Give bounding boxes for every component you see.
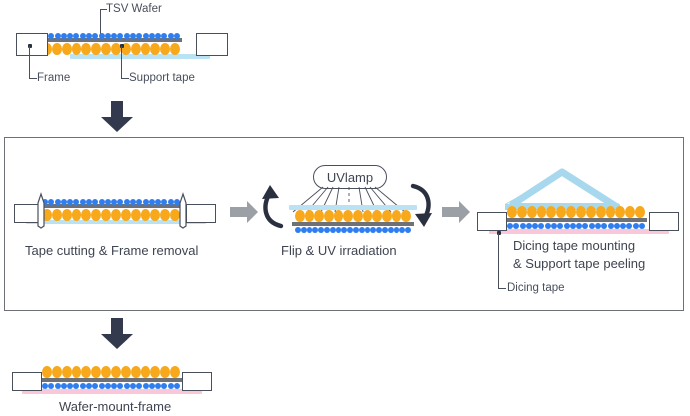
blue-bump	[67, 33, 73, 39]
blue-bump	[117, 33, 123, 39]
orange-bump	[517, 206, 527, 218]
result-caption: Wafer-mount-frame	[59, 399, 171, 416]
blue-bump	[105, 199, 111, 205]
orange-bump	[382, 210, 392, 222]
blue-bump	[143, 199, 149, 205]
orange-bump	[91, 43, 101, 55]
blue-bump	[595, 223, 601, 229]
orange-bump	[141, 366, 151, 378]
orange-bump	[62, 43, 72, 55]
tsv-wafer-label: TSV Wafer	[106, 2, 162, 16]
dicing-tape-leader-vertical	[498, 233, 499, 288]
orange-bump	[81, 366, 91, 378]
orange-bump	[615, 206, 625, 218]
blue-bump	[111, 383, 117, 389]
blue-bump-row-result	[42, 382, 180, 389]
orange-bump	[72, 366, 82, 378]
blue-bump	[324, 227, 330, 233]
blue-bump	[136, 33, 142, 39]
blue-bump	[61, 33, 67, 39]
blue-bump	[626, 223, 632, 229]
blue-bump-row-step3	[507, 222, 645, 229]
blue-bump	[86, 33, 92, 39]
orange-bump	[586, 206, 596, 218]
step-dicing-mount-caption: Dicing tape mounting & Support tape peel…	[513, 237, 645, 272]
orange-bump	[62, 366, 72, 378]
orange-bump	[121, 209, 131, 221]
blue-bump	[48, 33, 54, 39]
orange-bump	[606, 206, 616, 218]
blue-bump-row-step1	[42, 198, 180, 205]
orange-bump	[91, 209, 101, 221]
orange-bump	[635, 206, 645, 218]
frame-left-step3	[477, 212, 507, 231]
blue-bump	[388, 227, 394, 233]
orange-bump	[62, 209, 72, 221]
blue-bump	[149, 33, 155, 39]
blue-bump	[174, 33, 180, 39]
blade-icon-left	[36, 194, 46, 228]
blue-bump	[99, 199, 105, 205]
blue-bump	[161, 33, 167, 39]
blue-bump	[330, 227, 336, 233]
orange-bump	[566, 206, 576, 218]
frame-label: Frame	[37, 71, 70, 85]
blue-bump	[149, 383, 155, 389]
dicing-tape-layer-result	[22, 389, 202, 394]
frame-leader-vertical	[29, 46, 30, 78]
blue-bump	[61, 199, 67, 205]
blue-bump	[67, 383, 73, 389]
orange-bump	[150, 366, 160, 378]
orange-bump	[131, 209, 141, 221]
orange-bump	[392, 210, 402, 222]
blue-bump	[620, 223, 626, 229]
blue-bump	[161, 383, 167, 389]
stack-step1	[0, 190, 240, 235]
blue-bump	[608, 223, 614, 229]
blue-bump	[124, 383, 130, 389]
orange-bump-row-step1	[42, 208, 180, 221]
blue-bump	[105, 383, 111, 389]
tsv-wafer-leader-horizontal	[100, 9, 107, 10]
blue-bump	[130, 33, 136, 39]
orange-bump	[305, 210, 315, 222]
frame-leader-horizontal	[29, 78, 37, 79]
blue-bump	[136, 199, 142, 205]
blue-bump	[143, 33, 149, 39]
step-tape-cutting-caption: Tape cutting & Frame removal	[25, 243, 198, 260]
blue-bump	[55, 199, 61, 205]
blue-bump	[513, 223, 519, 229]
blue-bump	[61, 383, 67, 389]
orange-bump	[527, 206, 537, 218]
orange-bump	[42, 366, 52, 378]
down-arrow-icon-top	[100, 101, 134, 133]
blue-bump	[353, 227, 359, 233]
orange-bump-row-top	[42, 42, 180, 55]
blue-bump	[532, 223, 538, 229]
orange-bump-row-result	[42, 365, 180, 378]
orange-bump	[150, 43, 160, 55]
orange-bump	[507, 206, 517, 218]
blue-bump-row-step2	[295, 226, 411, 233]
blue-bump	[99, 33, 105, 39]
orange-bump	[72, 209, 82, 221]
blue-bump	[124, 199, 130, 205]
support-tape-leader-vertical	[121, 46, 122, 78]
blue-bump	[551, 223, 557, 229]
blue-bump	[633, 223, 639, 229]
blade-icon-right	[178, 194, 188, 228]
rotate-left-arrow-icon	[258, 182, 286, 228]
orange-bump	[343, 210, 353, 222]
support-tape-label: Support tape	[129, 71, 195, 85]
blue-bump	[86, 199, 92, 205]
frame-right-step3	[649, 212, 679, 231]
blue-bump	[359, 227, 365, 233]
orange-bump	[101, 43, 111, 55]
blue-bump	[639, 223, 645, 229]
orange-bump	[111, 209, 121, 221]
blue-bump	[55, 33, 61, 39]
blue-bump	[557, 223, 563, 229]
blue-bump	[67, 199, 73, 205]
orange-bump-row-step2	[295, 209, 411, 222]
blue-bump	[526, 223, 532, 229]
orange-bump	[314, 210, 324, 222]
blue-bump	[73, 33, 79, 39]
orange-bump	[121, 366, 131, 378]
orange-bump	[170, 43, 180, 55]
uv-lamp-icon: UVlamp	[313, 165, 387, 189]
blue-bump	[155, 383, 161, 389]
orange-bump	[131, 43, 141, 55]
blue-bump	[538, 223, 544, 229]
orange-bump	[295, 210, 305, 222]
orange-bump	[334, 210, 344, 222]
blue-bump	[42, 383, 48, 389]
orange-bump	[111, 366, 121, 378]
rotate-right-arrow-icon	[408, 182, 436, 228]
blue-bump	[155, 199, 161, 205]
blue-bump	[92, 383, 98, 389]
blue-bump	[301, 227, 307, 233]
blue-bump	[48, 199, 54, 205]
orange-bump	[596, 206, 606, 218]
orange-bump	[363, 210, 373, 222]
orange-bump	[52, 366, 62, 378]
blue-bump	[507, 223, 513, 229]
blue-bump	[80, 383, 86, 389]
orange-bump	[131, 366, 141, 378]
blue-bump	[130, 199, 136, 205]
blue-bump-row-top	[42, 32, 180, 39]
blue-bump	[382, 227, 388, 233]
orange-bump	[52, 43, 62, 55]
blue-bump	[601, 223, 607, 229]
dicing-tape-label: Dicing tape	[507, 281, 565, 295]
frame-right-result	[182, 372, 212, 391]
blue-bump	[168, 383, 174, 389]
blue-bump	[124, 33, 130, 39]
blue-bump	[130, 383, 136, 389]
orange-bump	[81, 209, 91, 221]
orange-bump	[91, 366, 101, 378]
frame-left-result	[12, 372, 42, 391]
blue-bump	[295, 227, 301, 233]
blue-bump	[80, 33, 86, 39]
orange-bump	[160, 366, 170, 378]
right-arrow-icon-1	[230, 201, 258, 223]
orange-bump-row-step3	[507, 205, 645, 218]
orange-bump	[81, 43, 91, 55]
orange-bump	[625, 206, 635, 218]
orange-bump	[52, 209, 62, 221]
blue-bump	[55, 383, 61, 389]
support-tape-leader-horizontal	[121, 78, 129, 79]
blue-bump	[155, 33, 161, 39]
blue-bump	[111, 199, 117, 205]
blue-bump	[161, 199, 167, 205]
dicing-tape-leader-horizontal	[498, 288, 506, 289]
blue-bump	[73, 199, 79, 205]
orange-bump	[556, 206, 566, 218]
blue-bump	[136, 383, 142, 389]
blue-bump	[576, 223, 582, 229]
blue-bump	[143, 383, 149, 389]
orange-bump	[141, 43, 151, 55]
blue-bump	[570, 223, 576, 229]
frame-right-step1	[186, 204, 216, 223]
orange-bump	[576, 206, 586, 218]
blue-bump	[92, 33, 98, 39]
orange-bump	[160, 43, 170, 55]
blue-bump	[48, 383, 54, 389]
blue-bump	[80, 199, 86, 205]
blue-bump	[545, 223, 551, 229]
orange-bump	[160, 209, 170, 221]
orange-bump	[101, 209, 111, 221]
orange-bump	[170, 366, 180, 378]
blue-bump	[92, 199, 98, 205]
orange-bump	[101, 366, 111, 378]
blue-bump	[589, 223, 595, 229]
blue-bump	[168, 199, 174, 205]
orange-bump	[372, 210, 382, 222]
blue-bump	[117, 383, 123, 389]
blue-bump	[99, 383, 105, 389]
orange-bump	[546, 206, 556, 218]
blue-bump	[86, 383, 92, 389]
frame-left-top	[16, 33, 48, 56]
down-arrow-icon-bottom	[100, 318, 134, 350]
blue-bump	[168, 33, 174, 39]
blue-bump	[564, 223, 570, 229]
orange-bump	[141, 209, 151, 221]
blue-bump	[105, 33, 111, 39]
blue-bump	[117, 199, 123, 205]
orange-bump	[537, 206, 547, 218]
orange-bump	[324, 210, 334, 222]
blue-bump	[111, 33, 117, 39]
step-flip-uv-caption: Flip & UV irradiation	[281, 243, 397, 260]
blue-bump	[520, 223, 526, 229]
dicing-tape-layer-step3	[489, 229, 669, 234]
blue-bump	[582, 223, 588, 229]
blue-bump	[73, 383, 79, 389]
orange-bump	[150, 209, 160, 221]
blue-bump	[614, 223, 620, 229]
frame-right-top	[196, 33, 228, 56]
blue-bump	[149, 199, 155, 205]
orange-bump	[353, 210, 363, 222]
blue-bump	[174, 383, 180, 389]
orange-bump	[72, 43, 82, 55]
